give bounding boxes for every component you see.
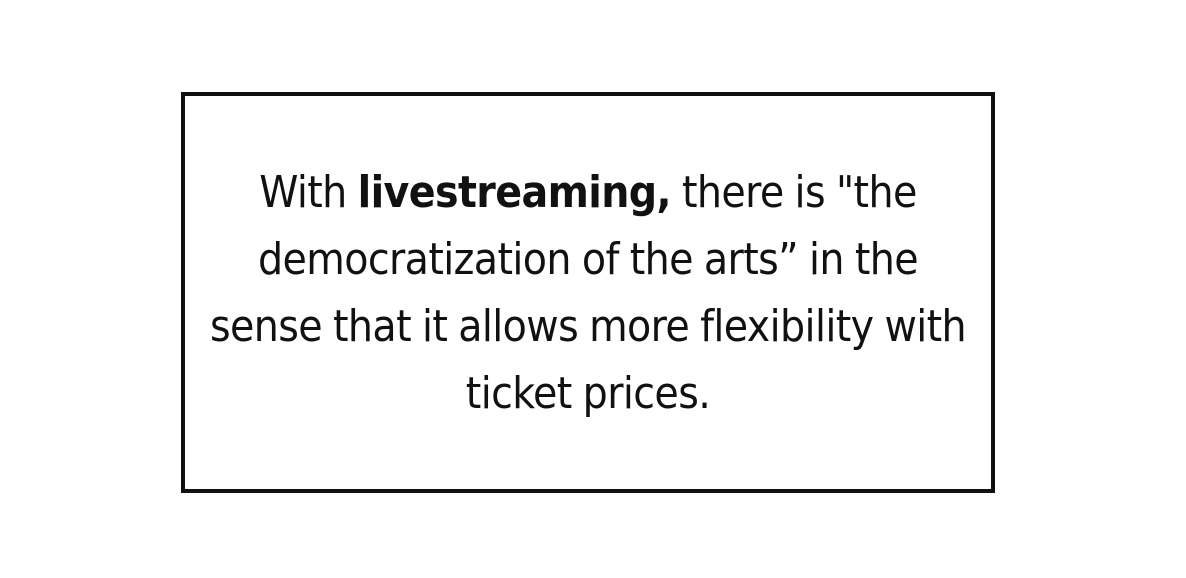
quote-text: With livestreaming, there is "the democr… bbox=[199, 159, 977, 427]
quote-card: With livestreaming, there is "the democr… bbox=[181, 92, 995, 493]
quote-text-emphasis: livestreaming, bbox=[358, 167, 671, 218]
quote-text-lead: With bbox=[259, 167, 357, 218]
quote-card-inner: With livestreaming, there is "the democr… bbox=[185, 159, 991, 427]
page-canvas: With livestreaming, there is "the democr… bbox=[0, 0, 1186, 578]
